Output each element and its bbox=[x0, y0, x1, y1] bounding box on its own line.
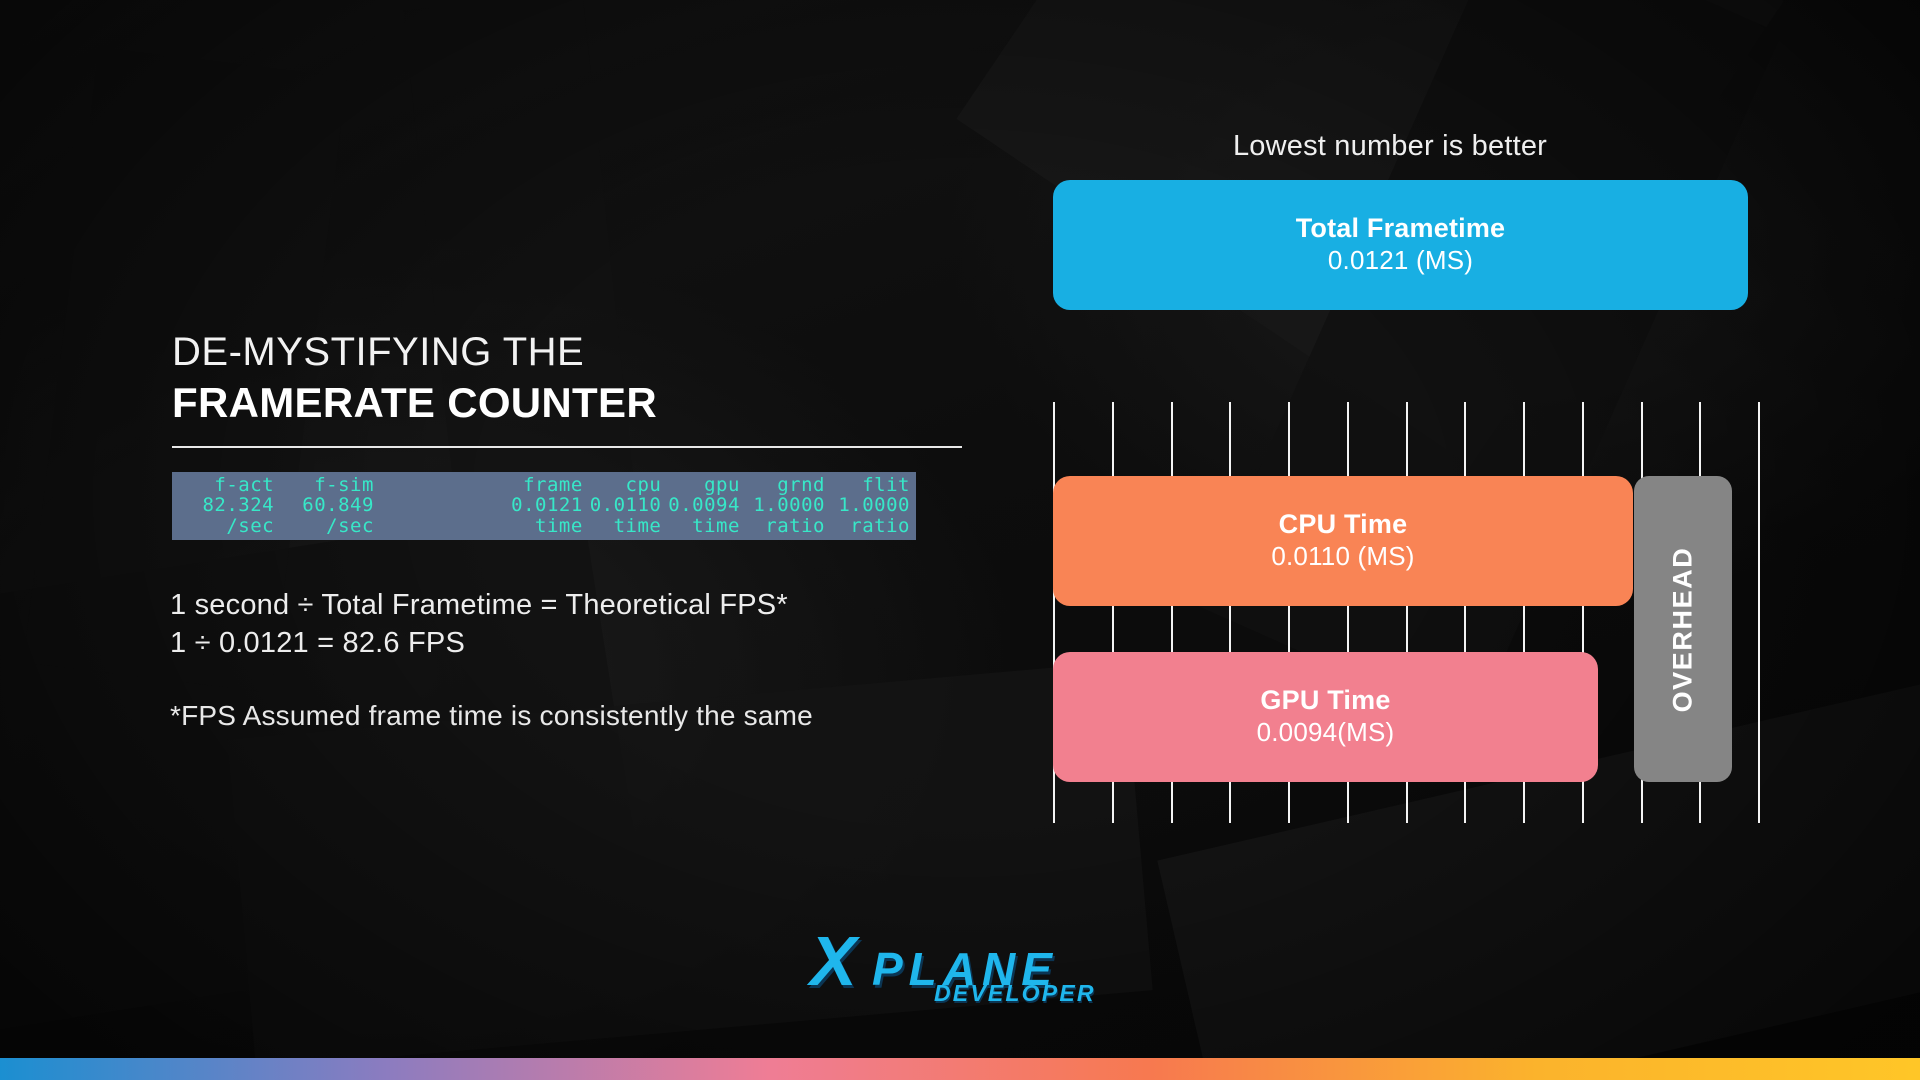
overlay-header-frame: frame bbox=[498, 475, 583, 495]
equations-block: 1 second ÷ Total Frametime = Theoretical… bbox=[170, 586, 788, 663]
overlay-spacer bbox=[374, 475, 498, 495]
bar-cpu-time-value: 0.0110 (MS) bbox=[1271, 541, 1414, 573]
bar-cpu-time-label: CPU Time bbox=[1279, 509, 1408, 541]
overlay-spacer bbox=[374, 516, 498, 536]
bar-overhead-label: OVERHEAD bbox=[1668, 546, 1699, 712]
framerate-counter-overlay: f-act f-sim frame cpu gpu grnd flit 82.3… bbox=[172, 472, 916, 540]
overlay-unit-flit: ratio bbox=[825, 516, 910, 536]
overlay-unit-f-act: /sec bbox=[178, 516, 274, 536]
bar-cpu-time: CPU Time 0.0110 (MS) bbox=[1053, 476, 1633, 606]
bar-overhead: OVERHEAD bbox=[1634, 476, 1732, 782]
page-title-line1: DE-MYSTIFYING THE bbox=[172, 330, 657, 375]
overlay-header-grnd: grnd bbox=[740, 475, 825, 495]
logo-x-mark: X bbox=[810, 926, 857, 996]
overlay-value-f-act: 82.324 bbox=[178, 495, 274, 515]
xplane-developer-logo: X PLANE DEVELOPER bbox=[0, 930, 1920, 1006]
title-divider bbox=[172, 446, 962, 448]
slide-root: DE-MYSTIFYING THE FRAMERATE COUNTER f-ac… bbox=[0, 0, 1920, 1080]
left-content-column: DE-MYSTIFYING THE FRAMERATE COUNTER f-ac… bbox=[0, 0, 980, 1030]
equation-line-2: 1 ÷ 0.0121 = 82.6 FPS bbox=[170, 624, 788, 662]
overlay-unit-grnd: ratio bbox=[740, 516, 825, 536]
overlay-unit-f-sim: /sec bbox=[274, 516, 374, 536]
overlay-value-grnd: 1.0000 bbox=[740, 495, 825, 515]
overlay-unit-cpu: time bbox=[583, 516, 662, 536]
overlay-spacer bbox=[374, 495, 498, 515]
bar-gpu-time-label: GPU Time bbox=[1260, 685, 1390, 717]
overlay-unit-frame: time bbox=[498, 516, 583, 536]
overlay-header-f-sim: f-sim bbox=[274, 475, 374, 495]
overlay-header-flit: flit bbox=[825, 475, 910, 495]
overlay-header-cpu: cpu bbox=[583, 475, 662, 495]
bar-total-frametime: Total Frametime 0.0121 (MS) bbox=[1053, 180, 1748, 310]
page-title: DE-MYSTIFYING THE FRAMERATE COUNTER bbox=[172, 330, 657, 427]
overlay-value-flit: 1.0000 bbox=[825, 495, 910, 515]
overlay-header-f-act: f-act bbox=[178, 475, 274, 495]
frametime-chart: Lowest number is better Total Frametime … bbox=[1040, 130, 1830, 830]
bar-total-frametime-label: Total Frametime bbox=[1296, 213, 1506, 245]
bar-gpu-time: GPU Time 0.0094(MS) bbox=[1053, 652, 1598, 782]
logo-developer-text: DEVELOPER bbox=[934, 982, 1096, 1005]
bar-gpu-time-value: 0.0094(MS) bbox=[1257, 717, 1395, 749]
overlay-header-row: f-act f-sim frame cpu gpu grnd flit bbox=[178, 475, 910, 495]
overlay-value-cpu: 0.0110 bbox=[583, 495, 662, 515]
overlay-unit-row: /sec /sec time time time ratio ratio bbox=[178, 516, 910, 536]
gridline bbox=[1758, 402, 1760, 823]
bar-total-frametime-value: 0.0121 (MS) bbox=[1328, 245, 1473, 277]
page-title-line2: FRAMERATE COUNTER bbox=[172, 379, 657, 427]
overlay-unit-gpu: time bbox=[661, 516, 740, 536]
overlay-value-gpu: 0.0094 bbox=[661, 495, 740, 515]
overlay-value-f-sim: 60.849 bbox=[274, 495, 374, 515]
overlay-header-gpu: gpu bbox=[661, 475, 740, 495]
equation-line-1: 1 second ÷ Total Frametime = Theoretical… bbox=[170, 586, 788, 624]
overlay-value-frame: 0.0121 bbox=[498, 495, 583, 515]
overlay-value-row: 82.324 60.849 0.0121 0.0110 0.0094 1.000… bbox=[178, 495, 910, 515]
footnote-text: *FPS Assumed frame time is consistently … bbox=[170, 700, 813, 732]
bottom-gradient-bar bbox=[0, 1058, 1920, 1080]
chart-caption: Lowest number is better bbox=[1040, 130, 1740, 163]
